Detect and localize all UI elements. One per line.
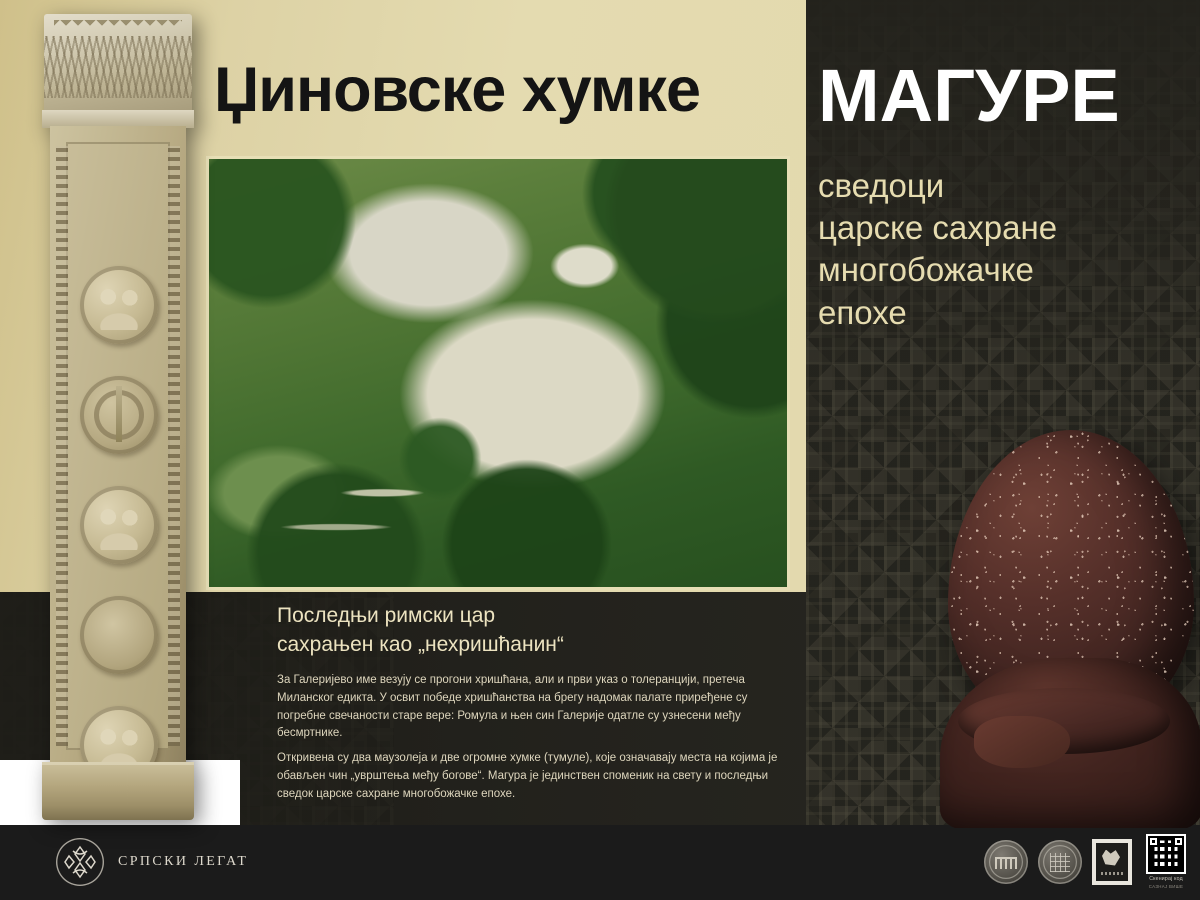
qr-block[interactable]: Скенирај код САЗНАЈ ВИШЕ [1146,834,1186,889]
square-emblem-icon [1092,839,1132,885]
vine-border-icon [56,146,68,746]
subtitle-line-3: многобожачке [818,249,1190,291]
brand-lockup: СРПСКИ ЛЕГАТ [56,838,248,886]
portrait-medallion-icon [80,486,158,564]
partner-logo-row: Скенирај код САЗНАЈ ВИШЕ [984,834,1186,889]
qr-caption-primary: Скенирај код [1149,876,1183,882]
paragraph-2: Откривена су два маузолеја и две огромне… [277,750,793,803]
paragraph-1: За Галеријево име везују се прогони хриш… [277,672,793,743]
lead-line-2: сахрањен као „нехришћанин“ [277,631,797,660]
zigzag-ornament-icon [54,20,182,31]
body-copy: За Галеријево име везују се прогони хриш… [277,672,793,811]
pilaster-capital [44,14,192,112]
wreath-medallion-icon [80,376,158,454]
exhibition-subtitle: сведоци царске сахране многобожачке епох… [818,165,1190,334]
lead-statement: Последњи римски цар сахрањен као „нехриш… [277,602,797,660]
subtitle-line-1: сведоци [818,165,1190,207]
brand-name: СРПСКИ ЛЕГАТ [118,854,248,870]
double-bust-relief-icon [92,504,146,550]
qr-caption-secondary: САЗНАЈ ВИШЕ [1149,884,1183,889]
ornament-rosette-icon [56,838,104,886]
porphyry-sculpture-artifact [940,430,1200,828]
seal-institute-icon [984,840,1028,884]
pilaster-base [42,762,194,820]
plain-medallion-icon [80,596,158,674]
portrait-medallion-icon [80,266,158,344]
temple-facade-icon [995,857,1017,869]
vine-border-icon [168,146,180,746]
aerial-photo-image [209,159,787,587]
seal-emblem-icon [1050,853,1070,872]
pilaster-shaft [50,126,186,766]
qr-code-icon[interactable] [1146,834,1186,874]
laurel-wreath-icon [94,390,144,440]
stone-pilaster-artifact [42,14,194,820]
aerial-photo [206,156,790,590]
subtitle-line-4: епохе [818,292,1190,334]
exhibition-poster: Џиновске хумке [0,0,1200,900]
subtitle-line-2: царске сахране [818,207,1190,249]
double-bust-relief-icon [92,284,146,330]
exhibition-title: МАГУРЕ [818,62,1120,130]
lead-line-1: Последњи римски цар [277,602,797,631]
page-title: Џиновске хумке [214,58,794,122]
porphyry-hand [974,716,1070,768]
acanthus-leaves-icon [44,36,192,98]
seal-museum-icon [1038,840,1082,884]
qr-code-modules [1148,836,1184,872]
square-emblem-mark [1096,843,1128,881]
